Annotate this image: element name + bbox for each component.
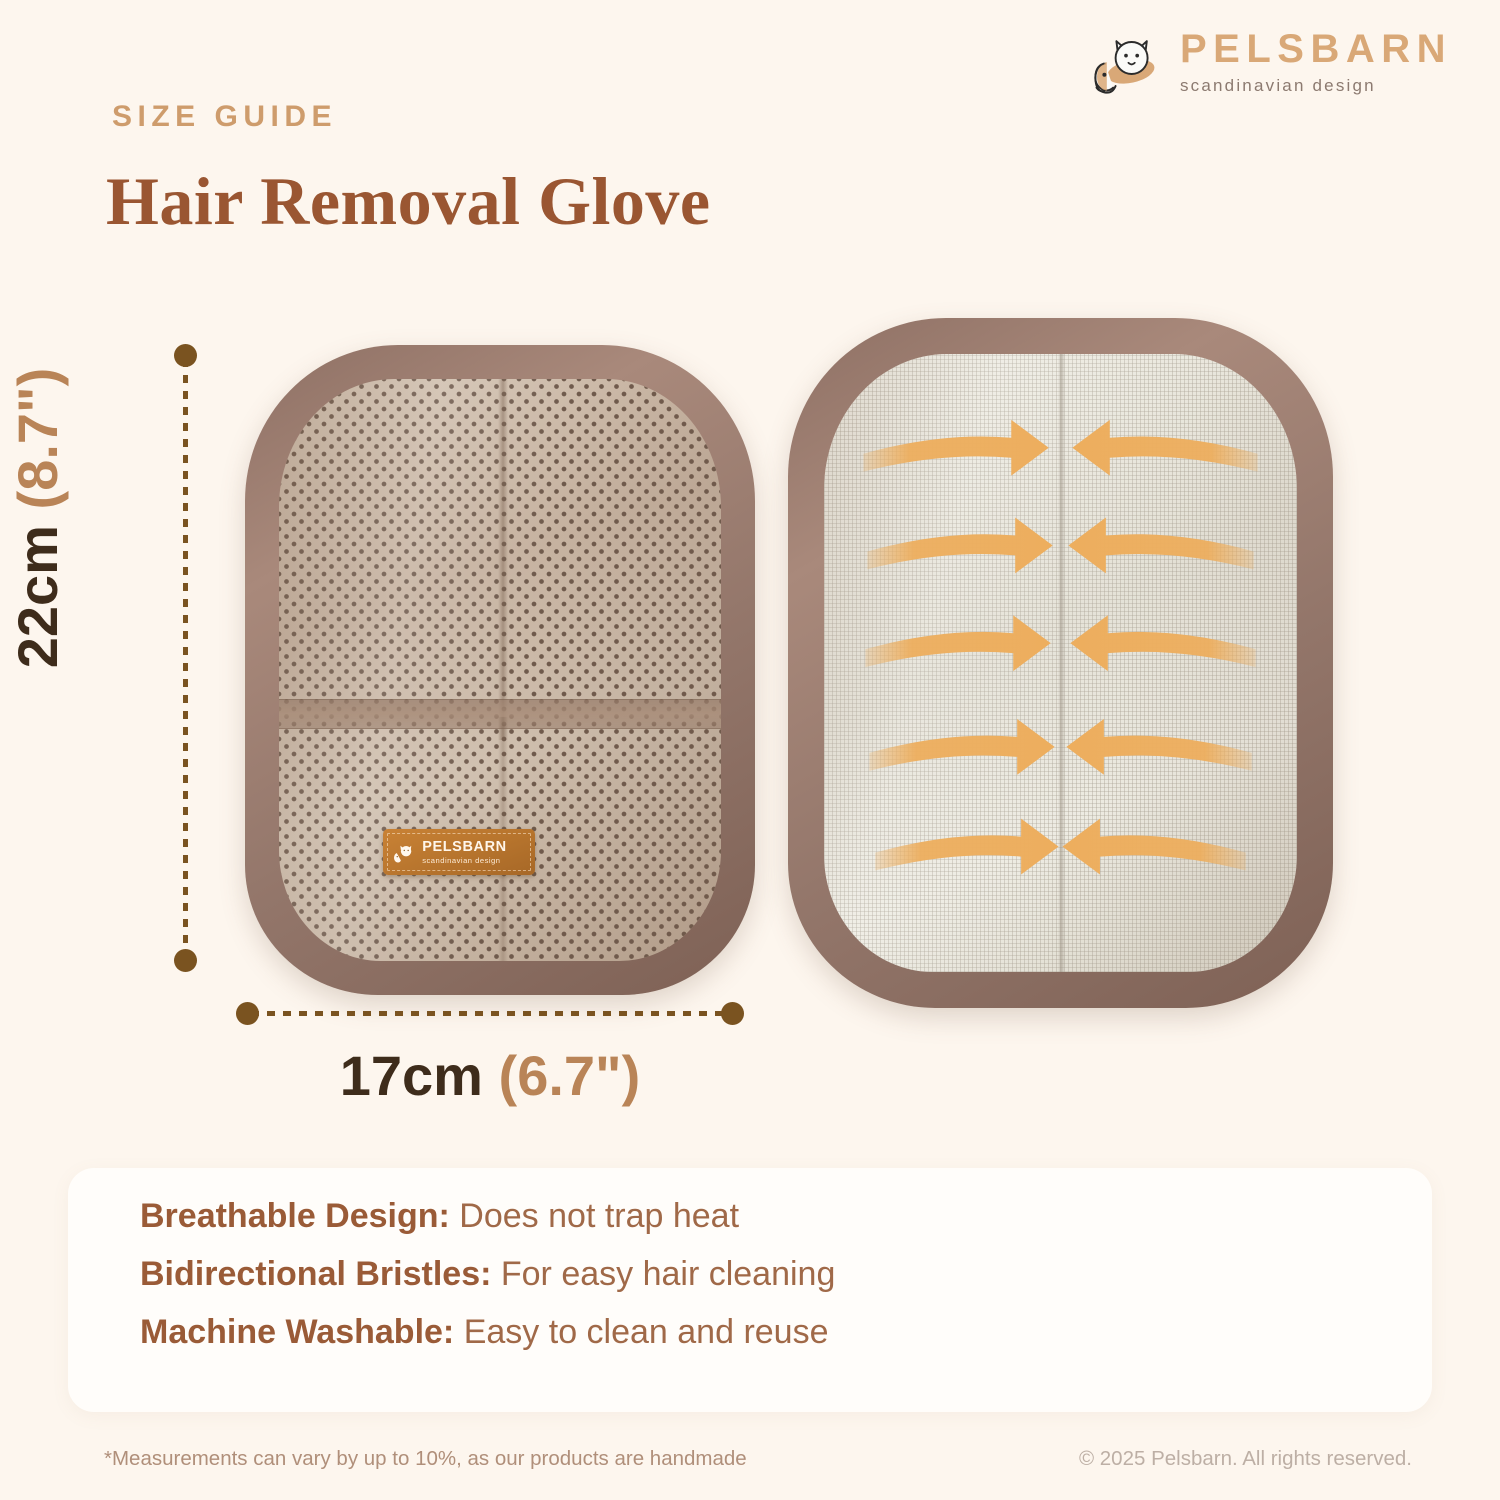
width-inch-value: (6.7") xyxy=(499,1044,641,1107)
feature-item-breathable: Breathable Design: Does not trap heat xyxy=(140,1196,835,1236)
feature-text: For easy hair cleaning xyxy=(491,1255,835,1293)
width-dimension-label: 17cm (6.7") xyxy=(240,1048,740,1104)
eyebrow-label: SIZE GUIDE xyxy=(112,100,337,134)
feature-label: Machine Washable: xyxy=(140,1313,454,1351)
ruler-dotted-line xyxy=(183,359,188,957)
brand-logo: PELSBARN scandinavian design xyxy=(1086,22,1452,102)
height-ruler xyxy=(180,348,191,968)
page-title: Hair Removal Glove xyxy=(106,162,711,241)
product-brand-tag: PELSBARN scandinavian design xyxy=(383,829,535,875)
cat-dog-logo-icon xyxy=(1086,22,1166,102)
feature-label: Bidirectional Bristles: xyxy=(140,1255,491,1293)
footer-copyright: © 2025 Pelsbarn. All rights reserved. xyxy=(1079,1447,1412,1471)
width-ruler xyxy=(240,1008,740,1019)
tag-cat-dog-icon xyxy=(391,839,417,865)
brand-name: PELSBARN xyxy=(1180,29,1452,69)
height-cm-value: 22cm xyxy=(6,525,69,668)
height-inch-value: (8.7") xyxy=(6,368,69,510)
brand-tagline: scandinavian design xyxy=(1180,76,1452,96)
feature-text: Easy to clean and reuse xyxy=(454,1313,828,1351)
tag-brand-name: PELSBARN xyxy=(422,840,507,855)
ruler-dotted-line xyxy=(251,1011,729,1016)
feature-text: Does not trap heat xyxy=(450,1197,739,1235)
features-list: Breathable Design: Does not trap heat Bi… xyxy=(140,1196,835,1352)
feature-item-washable: Machine Washable: Easy to clean and reus… xyxy=(140,1312,835,1352)
ruler-cap-right xyxy=(721,1002,744,1025)
footer-disclaimer: *Measurements can vary by up to 10%, as … xyxy=(104,1447,747,1471)
ruler-cap-bottom xyxy=(174,949,197,972)
product-image-back xyxy=(788,318,1333,1008)
product-stage: PELSBARN scandinavian design xyxy=(0,320,1500,1020)
feature-label: Breathable Design: xyxy=(140,1197,450,1235)
tag-brand-tagline: scandinavian design xyxy=(422,857,507,865)
features-card: Breathable Design: Does not trap heat Bi… xyxy=(68,1168,1432,1412)
bidirectional-arrows-icon xyxy=(824,354,1297,972)
feature-item-bidirectional: Bidirectional Bristles: For easy hair cl… xyxy=(140,1254,835,1294)
width-cm-value: 17cm xyxy=(340,1044,483,1107)
product-image-front: PELSBARN scandinavian design xyxy=(245,345,755,995)
height-dimension-label: 22cm (8.7") xyxy=(10,288,66,748)
